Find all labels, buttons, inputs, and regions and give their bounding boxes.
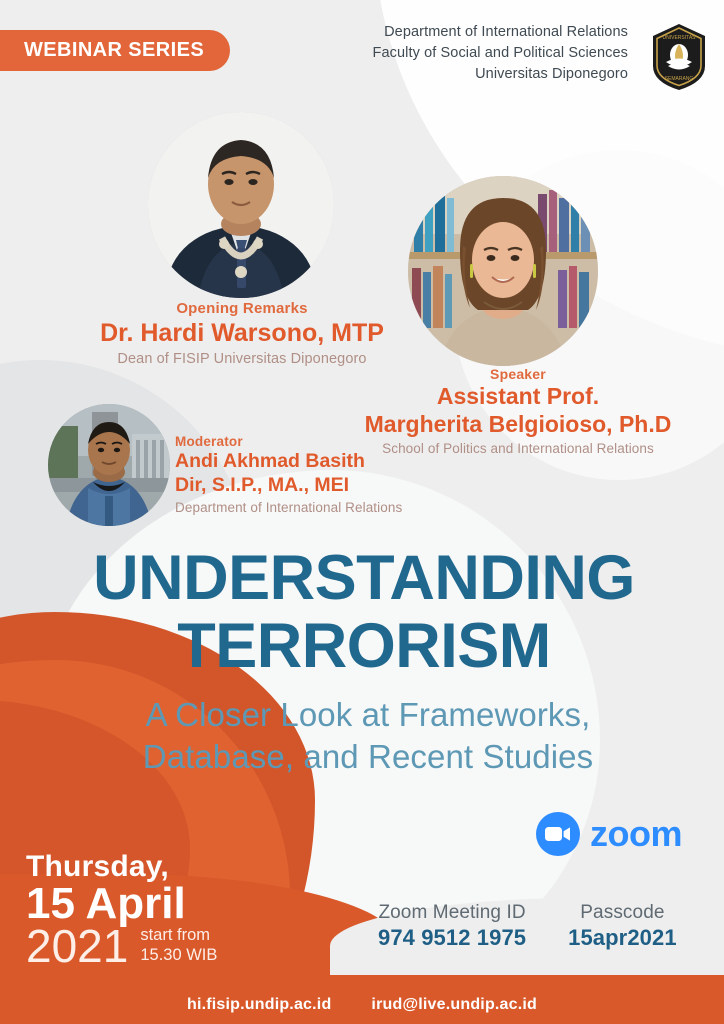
moderator-role: Moderator <box>175 434 515 449</box>
meeting-id-value: 974 9512 1975 <box>378 925 526 951</box>
avatar-speaker <box>408 176 598 366</box>
avatar-moderator <box>48 404 170 526</box>
zoom-meeting-info: Zoom Meeting ID 974 9512 1975 Passcode 1… <box>378 902 677 951</box>
event-year: 2021 <box>26 923 128 969</box>
event-date-block: Thursday, 15 April 2021 start from 15.30… <box>26 850 217 969</box>
footer-website-link[interactable]: hi.fisip.undip.ac.id <box>187 996 331 1014</box>
event-year-row: 2021 start from 15.30 WIB <box>26 923 217 969</box>
opening-remarks-block: Opening Remarks Dr. Hardi Warsono, MTP D… <box>60 300 424 367</box>
avatar-opening-remarks <box>148 112 334 298</box>
moderator-name-line-1: Andi Akhmad Basith <box>175 451 515 473</box>
poster-subtitle: A Closer Look at Frameworks, Database, a… <box>40 694 696 778</box>
video-camera-icon <box>536 812 580 856</box>
title-line-2: TERRORISM <box>40 616 688 678</box>
department-line-2: Faculty of Social and Political Sciences <box>373 43 628 64</box>
opening-remarks-affiliation: Dean of FISIP Universitas Diponegoro <box>60 351 424 367</box>
webinar-series-badge: WEBINAR SERIES <box>0 30 230 71</box>
footer-contact-links: hi.fisip.undip.ac.id irud@live.undip.ac.… <box>0 996 724 1014</box>
poster-title: UNDERSTANDING TERRORISM <box>40 548 688 677</box>
opening-remarks-name: Dr. Hardi Warsono, MTP <box>60 319 424 347</box>
zoom-wordmark: zoom <box>590 813 682 855</box>
meeting-id-label: Zoom Meeting ID <box>378 902 526 924</box>
moderator-affiliation: Department of International Relations <box>175 500 515 515</box>
svg-text:UNIVERSITAS: UNIVERSITAS <box>663 35 697 41</box>
department-heading: Department of International Relations Fa… <box>373 22 628 85</box>
subtitle-line-2: Database, and Recent Studies <box>40 736 696 778</box>
department-line-3: Universitas Diponegoro <box>373 64 628 85</box>
passcode-label: Passcode <box>568 902 677 924</box>
webinar-poster: WEBINAR SERIES Department of Internation… <box>0 0 724 1024</box>
title-line-1: UNDERSTANDING <box>40 548 688 610</box>
opening-remarks-role: Opening Remarks <box>60 300 424 317</box>
speaker-name-line-1: Assistant Prof. <box>330 384 706 410</box>
passcode-group: Passcode 15apr2021 <box>568 902 677 951</box>
universitas-diponegoro-logo: UNIVERSITAS SEMARANG <box>648 22 710 92</box>
moderator-block: Moderator Andi Akhmad Basith Dir, S.I.P.… <box>175 434 515 515</box>
zoom-logo: zoom <box>536 812 682 856</box>
subtitle-line-1: A Closer Look at Frameworks, <box>40 694 696 736</box>
department-line-1: Department of International Relations <box>373 22 628 43</box>
meeting-id-group: Zoom Meeting ID 974 9512 1975 <box>378 902 526 951</box>
start-time-value: 15.30 WIB <box>140 945 217 965</box>
start-from-label: start from <box>140 925 217 945</box>
speaker-role: Speaker <box>330 366 706 382</box>
footer-email-link[interactable]: irud@live.undip.ac.id <box>371 996 537 1014</box>
passcode-value: 15apr2021 <box>568 925 677 951</box>
moderator-name-line-2: Dir, S.I.P., MA., MEI <box>175 475 515 497</box>
event-start-time: start from 15.30 WIB <box>140 925 217 969</box>
svg-text:SEMARANG: SEMARANG <box>665 76 694 82</box>
